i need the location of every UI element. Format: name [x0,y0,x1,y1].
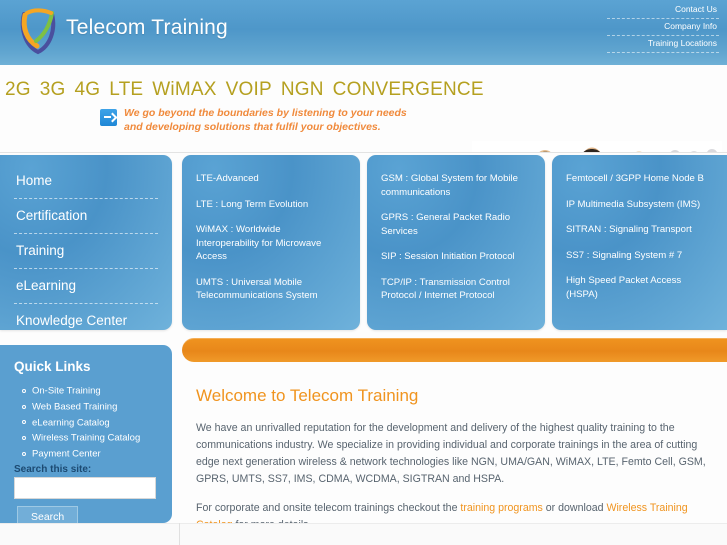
cta-text-middle: or download [543,502,607,514]
sidebar-item-knowledge-center[interactable]: Knowledge Center [14,312,158,330]
list-item: Payment Center [22,447,160,460]
quick-link-payment-center[interactable]: Payment Center [32,448,101,459]
term-item: Femtocell / 3GPP Home Node B [566,172,713,186]
terms-column-3: Femtocell / 3GPP Home Node B IP Multimed… [552,155,727,330]
quick-link-web-based-training[interactable]: Web Based Training [32,401,117,412]
bullet-icon [22,405,26,409]
intro-paragraph: We have an unrivalled reputation for the… [196,420,721,488]
term-item: UMTS : Universal Mobile Telecommunicatio… [196,276,346,303]
search-label: Search this site: [14,464,160,475]
tagline-text: We go beyond the boundaries by listening… [124,106,414,134]
term-item: SS7 : Signaling System # 7 [566,249,713,263]
quick-links-title: Quick Links [14,359,160,374]
bullet-icon [22,389,26,393]
page-root: Telecom Training Contact Us Company Info… [0,0,727,545]
top-link-company-info[interactable]: Company Info [607,19,719,36]
tech-4g: 4G [75,79,101,100]
tech-3g: 3G [40,79,66,100]
quick-link-elearning-catalog[interactable]: eLearning Catalog [32,417,110,428]
cta-text-before: For corporate and onsite telecom trainin… [196,502,460,514]
list-item: Web Based Training [22,400,160,413]
sidebar-item-certification[interactable]: Certification [14,207,158,234]
arrow-right-icon [100,109,117,126]
top-links-nav: Contact Us Company Info Training Locatio… [607,2,719,53]
term-item: LTE-Advanced [196,172,346,186]
bullet-icon [22,452,26,456]
tech-ngn: NGN [281,79,324,100]
cards-row: Home Certification Training eLearning Kn… [0,155,727,330]
quick-link-wireless-training-catalog[interactable]: Wireless Training Catalog [32,433,140,444]
term-item: LTE : Long Term Evolution [196,198,346,212]
terms-column-1: LTE-Advanced LTE : Long Term Evolution W… [182,155,360,330]
tech-voip: VOIP [226,79,272,100]
term-item: High Speed Packet Access (HSPA) [566,274,713,301]
terms-column-2: GSM : Global System for Mobile communica… [367,155,545,330]
search-button[interactable]: Search [17,506,78,523]
swirl-logo-icon[interactable] [10,4,66,60]
training-programs-link[interactable]: training programs [460,502,542,514]
promo-banner: 2G3G4GLTEWiMAXVOIPNGNCONVERGENCE We go b… [0,65,727,153]
list-item: Wireless Training Catalog [22,431,160,444]
sidebar-item-training[interactable]: Training [14,242,158,269]
business-team-photo [472,141,722,153]
term-item: TCP/IP : Transmission Control Protocol /… [381,276,531,303]
term-item: IP Multimedia Subsystem (IMS) [566,198,713,212]
page-title: Telecom Training [66,16,228,40]
sidebar-item-home[interactable]: Home [14,172,158,199]
top-link-contact-us[interactable]: Contact Us [607,2,719,19]
bullet-icon [22,420,26,424]
term-item: GPRS : General Packet Radio Services [381,211,531,238]
top-link-training-locations[interactable]: Training Locations [607,36,719,53]
term-item: GSM : Global System for Mobile communica… [381,172,531,199]
main-navigation: Home Certification Training eLearning Kn… [0,155,172,330]
technology-list: 2G3G4GLTEWiMAXVOIPNGNCONVERGENCE [5,79,493,101]
term-item: WiMAX : Worldwide Interoperability for M… [196,223,346,264]
sidebar-item-elearning[interactable]: eLearning [14,277,158,304]
tech-wimax: WiMAX [152,79,216,100]
welcome-heading: Welcome to Telecom Training [196,386,721,406]
tech-lte: LTE [109,79,143,100]
tech-2g: 2G [5,79,31,100]
search-input[interactable] [14,477,156,499]
orange-divider-bar [182,338,727,362]
tagline-row: We go beyond the boundaries by listening… [100,106,414,134]
site-header: Telecom Training Contact Us Company Info… [0,0,727,65]
footer-divider [179,523,180,545]
main-content: Welcome to Telecom Training We have an u… [196,386,721,545]
bullet-icon [22,436,26,440]
quick-links-panel: Quick Links On-Site Training Web Based T… [0,345,172,523]
footer-strip [0,523,727,545]
term-item: SIP : Session Initiation Protocol [381,250,531,264]
list-item: eLearning Catalog [22,416,160,429]
quick-links-list: On-Site Training Web Based Training eLea… [22,384,160,460]
list-item: On-Site Training [22,384,160,397]
quick-link-on-site-training[interactable]: On-Site Training [32,385,101,396]
tech-convergence: CONVERGENCE [333,79,484,100]
term-item: SITRAN : Signaling Transport [566,223,713,237]
